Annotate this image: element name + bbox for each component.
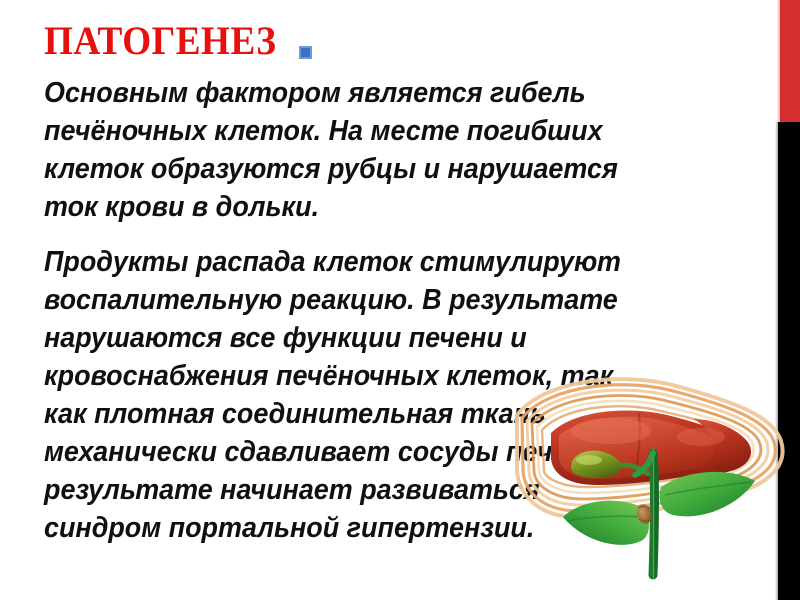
slide-body: Основным фактором является гибель печёно… (44, 74, 756, 547)
body-paragraph-1: Основным фактором является гибель печёно… (44, 74, 717, 226)
paragraph-line: результате начинает развиваться (44, 471, 717, 509)
paragraph-line: синдром портальной гипертензии. (44, 509, 717, 547)
paragraph-line: воспалительную реакцию. В результате (44, 281, 717, 319)
paragraph-line: клеток образуются рубцы и нарушается (44, 150, 717, 188)
paragraph-line: нарушаются все функции печени и (44, 319, 717, 357)
presentation-slide: ПАТОГЕНЕЗ Основным фактором является гиб… (0, 0, 800, 600)
edge-bar-red (780, 0, 800, 122)
body-paragraph-2: Продукты распада клеток стимулируют восп… (44, 243, 717, 547)
blue-square-bullet-icon (299, 46, 312, 59)
paragraph-line: Продукты распада клеток стимулируют (44, 243, 717, 281)
paragraph-line: как плотная соединительная ткань (44, 395, 717, 433)
page-title: ПАТОГЕНЕЗ (44, 19, 276, 63)
slide-title-row: ПАТОГЕНЕЗ (44, 19, 312, 63)
edge-bar-black (778, 122, 800, 600)
paragraph-line: механически сдавливает сосуды печени, в (44, 433, 717, 471)
paragraph-line: печёночных клеток. На месте погибших (44, 112, 717, 150)
paragraph-line: ток крови в дольки. (44, 188, 717, 226)
paragraph-line: Основным фактором является гибель (44, 74, 717, 112)
paragraph-line: кровоснабжения печёночных клеток, так (44, 357, 717, 395)
